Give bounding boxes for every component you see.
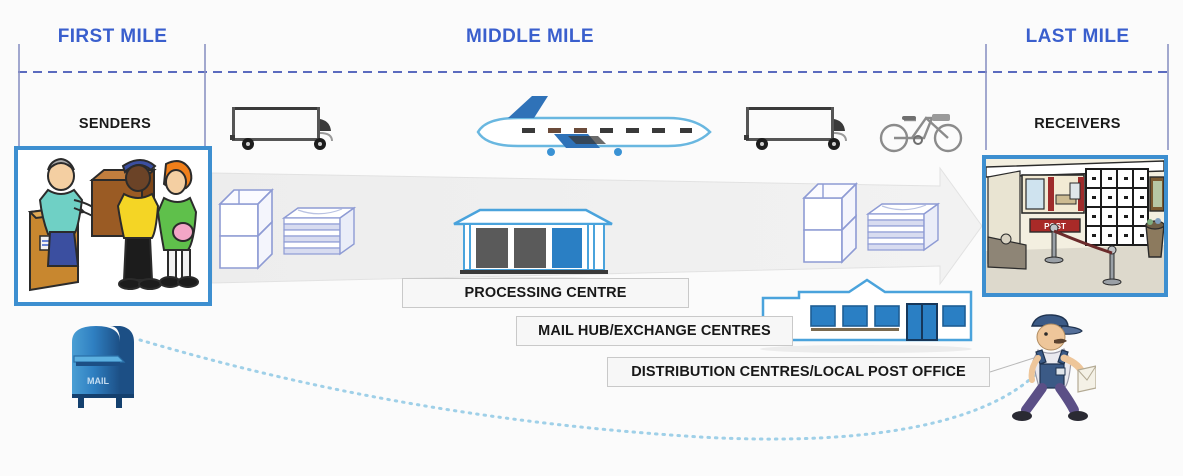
- stage-title-last-mile: LAST MILE: [1000, 26, 1155, 48]
- parcel-stack-group: [214, 180, 364, 276]
- stacked-boxes: [804, 184, 856, 262]
- truck-icon: [738, 99, 856, 154]
- receivers-illustration: POST: [986, 159, 1164, 293]
- wall-picture: [1150, 177, 1164, 211]
- airplane-icon: [448, 92, 716, 164]
- ground-shadow-postoffice: [760, 345, 972, 353]
- role-label-receivers: RECEIVERS: [995, 116, 1160, 132]
- po-box-wall: [1086, 169, 1148, 245]
- letters-in-hand: [1078, 366, 1096, 392]
- senders-illustration: [18, 150, 208, 302]
- waste-bin: [1146, 218, 1164, 257]
- senders-illustration-frame: [14, 146, 212, 306]
- stacked-boxes: [220, 190, 272, 268]
- street-mailbox: MAIL: [58, 316, 144, 414]
- callout-mail-hub-exchange-centres: MAIL HUB/EXCHANGE CENTRES: [516, 316, 793, 346]
- receivers-illustration-frame: POST: [982, 155, 1168, 297]
- flat-mail-stack: [868, 204, 938, 250]
- bicycle-icon: [874, 104, 970, 154]
- postman-figure: [1004, 310, 1096, 428]
- diagram-canvas: FIRST MILE MIDDLE MILE LAST MILE SENDERS…: [0, 0, 1183, 476]
- mailbox-collection-path: [140, 340, 1038, 439]
- parcel-stack-group: [798, 168, 948, 278]
- mailbox-label-text: MAIL: [87, 376, 109, 386]
- truck-icon: [224, 99, 342, 154]
- service-counter-window: [1022, 175, 1084, 213]
- stage-title-middle-mile: MIDDLE MILE: [400, 26, 660, 48]
- flat-mail-stack: [284, 208, 354, 254]
- callout-processing-centre: PROCESSING CENTRE: [402, 278, 689, 308]
- role-label-senders: SENDERS: [40, 116, 190, 132]
- stage-title-first-mile: FIRST MILE: [40, 26, 185, 48]
- callout-distribution-centres-local-post-office: DISTRIBUTION CENTRES/LOCAL POST OFFICE: [607, 357, 990, 387]
- processing-centre-building: [450, 206, 616, 278]
